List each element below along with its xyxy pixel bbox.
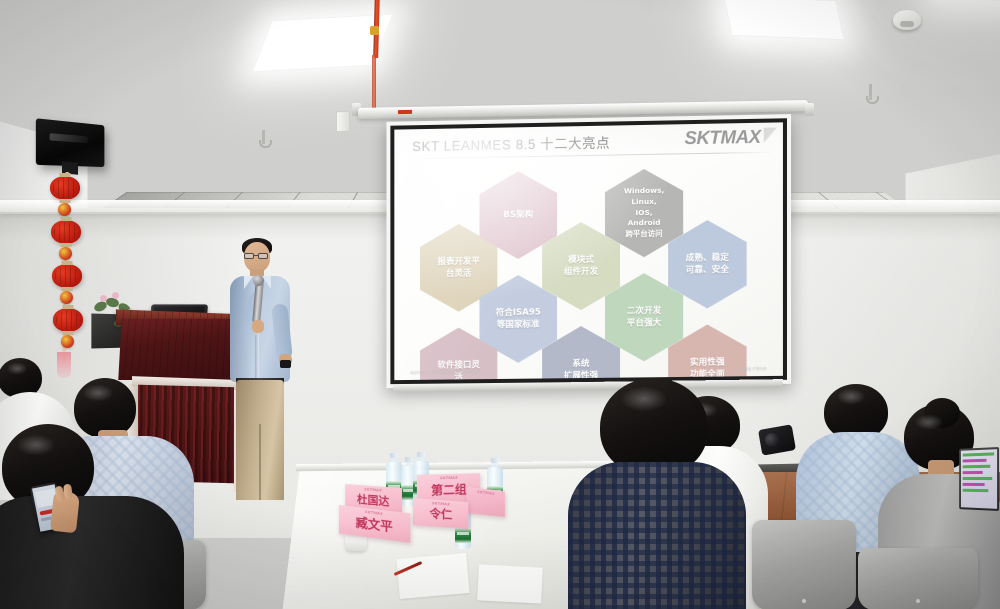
card-logo: SKTMAX	[440, 476, 458, 481]
wall-mounted-tv	[36, 118, 105, 167]
name-card-text: 杜国达	[357, 490, 389, 509]
hair-highlight	[914, 414, 944, 430]
card-logo: SKTMAX	[477, 490, 494, 496]
audience-member	[576, 378, 736, 609]
lantern-coin-icon	[61, 335, 74, 348]
paper-sheet	[477, 564, 543, 603]
hair-highlight	[82, 384, 114, 402]
paper-sheet	[396, 553, 469, 599]
name-card-lingren: SKTMAX 令仁	[413, 498, 468, 529]
lantern-icon	[51, 220, 81, 244]
screen-roller-cap	[805, 103, 814, 116]
laptop-screen	[961, 449, 997, 509]
smoke-detector-icon	[893, 10, 921, 30]
hair-highlight	[6, 362, 28, 375]
lantern-coin-icon	[59, 247, 72, 260]
audience-member	[0, 424, 176, 609]
slide-footer-left: 版权所有 (C) 苏州某某某某科技股份有限公司	[410, 369, 480, 375]
screen-roller-label	[398, 110, 412, 114]
presenter-collar-left	[244, 276, 253, 289]
lantern-icon	[53, 308, 83, 332]
lantern-coin-icon	[60, 291, 73, 304]
hair-highlight	[620, 386, 668, 412]
hexagon-label: 系统 扩展性强	[564, 357, 598, 380]
presentation-clicker	[280, 360, 291, 368]
lantern-coin-icon	[58, 203, 71, 216]
ceiling-hook-icon	[869, 84, 872, 100]
hexagon-label: 符合ISA95 等国家标准	[496, 306, 541, 331]
audience-shirt	[0, 496, 184, 609]
slide-footer-right: 保密信息 严禁外传	[737, 366, 766, 371]
hexagon-diagram: 报表开发平 台灵活BS架构符合ISA95 等国家标准软件接口灵 活硬件接口弹 性…	[394, 122, 783, 380]
lantern-icon	[50, 176, 80, 200]
hexagon-label: BS架构	[503, 209, 533, 222]
name-card-extra: SKTMAX	[466, 487, 504, 517]
glasses-icon	[243, 253, 271, 259]
hexagon-label: Windows, Linux, IOS, Android 跨平台访问	[624, 186, 664, 240]
hair-highlight	[16, 434, 56, 456]
name-card-text: 臧文平	[356, 512, 393, 536]
chair-back	[752, 520, 856, 609]
presenter	[224, 234, 302, 502]
hexagon-label: 实用性强 功能全面	[690, 356, 725, 380]
ceiling-hook-icon	[262, 130, 265, 144]
led-ceiling-panel	[925, 0, 1000, 3]
presenter-trouser-seam	[259, 424, 261, 500]
wall-power-outlet	[336, 111, 350, 132]
hair-highlight	[836, 388, 866, 405]
slide-content: SKT LEANMES 8.5 十二大亮点 SKTMAX 报表开发平 台灵活BS…	[394, 122, 783, 380]
pipe-fitting	[370, 26, 379, 35]
hexagon-label: 模块式 组件开发	[564, 253, 598, 278]
led-ceiling-panel	[723, 0, 844, 40]
audience-laptop	[959, 447, 999, 511]
name-card-text: 令仁	[430, 505, 453, 523]
screen-surface: SKT LEANMES 8.5 十二大亮点 SKTMAX 报表开发平 台灵活BS…	[394, 122, 783, 380]
chair-back	[858, 548, 978, 609]
hexagon-label: 二次开发 平台强大	[627, 305, 661, 330]
presenter-hand-left	[252, 320, 264, 333]
microphone-head	[253, 275, 264, 286]
audience-shirt	[568, 462, 746, 609]
hexagon-label: 成熟、稳定 可靠、安全	[686, 251, 729, 277]
lantern-icon	[52, 264, 82, 288]
sprinkler-pipe-lower	[372, 55, 376, 115]
projection-screen: SKT LEANMES 8.5 十二大亮点 SKTMAX 报表开发平 台灵活BS…	[386, 114, 791, 388]
name-card-text: 第二组	[431, 480, 466, 498]
conference-room-scene: SKT LEANMES 8.5 十二大亮点 SKTMAX 报表开发平 台灵活BS…	[0, 0, 1000, 609]
hexagon-label: 报表开发平 台灵活	[437, 255, 480, 280]
